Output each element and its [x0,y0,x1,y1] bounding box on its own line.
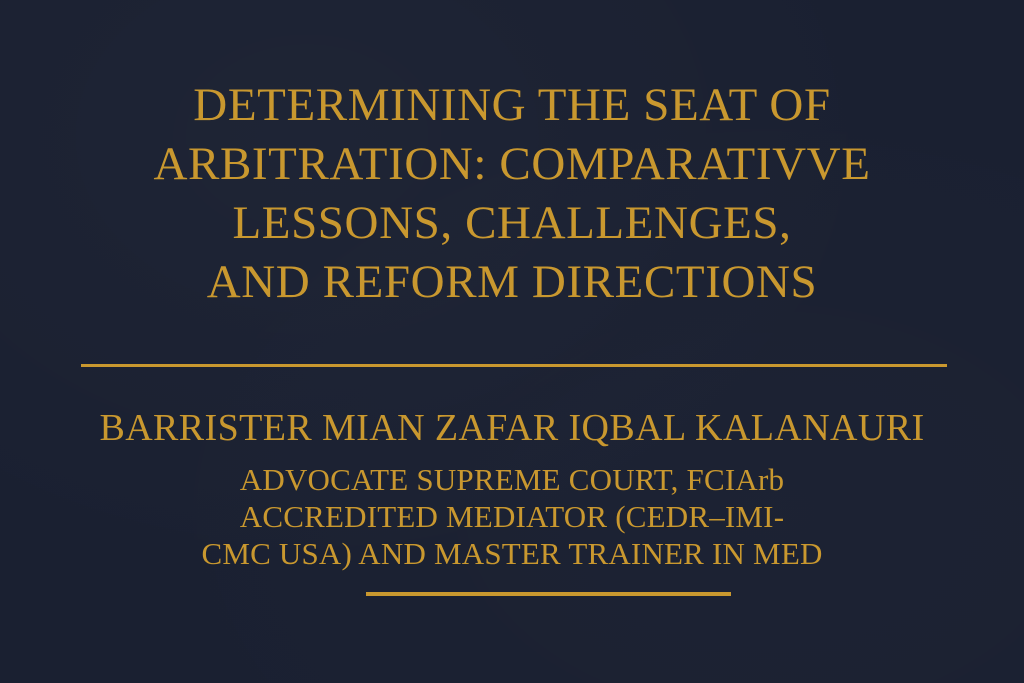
divider-rule-top [81,364,947,367]
title-slide: DETERMINING THE SEAT OF ARBITRATION: COM… [0,0,1024,683]
divider-rule-bottom [366,592,731,596]
presenter-credentials-block: ADVOCATE SUPREME COURT, FCIArb ACCREDITE… [0,461,1024,572]
title-line-3: LESSONS, CHALLENGES, [0,194,1024,253]
presenter-name-block: BARRISTER MIAN ZAFAR IQBAL KALANAURI [0,404,1024,452]
presenter-name: BARRISTER MIAN ZAFAR IQBAL KALANAURI [0,404,1024,452]
title-line-2: ARBITRATION: COMPARATIVVE [0,135,1024,194]
title-line-4: AND REFORM DIRECTIONS [0,253,1024,312]
credential-line-1: ADVOCATE SUPREME COURT, FCIArb [0,461,1024,498]
slide-title: DETERMINING THE SEAT OF ARBITRATION: COM… [0,76,1024,312]
title-line-1: DETERMINING THE SEAT OF [0,76,1024,135]
credential-line-2: ACCREDITED MEDIATOR (CEDR–IMI- [0,498,1024,535]
credential-line-3: CMC USA) AND MASTER TRAINER IN MED [0,535,1024,572]
